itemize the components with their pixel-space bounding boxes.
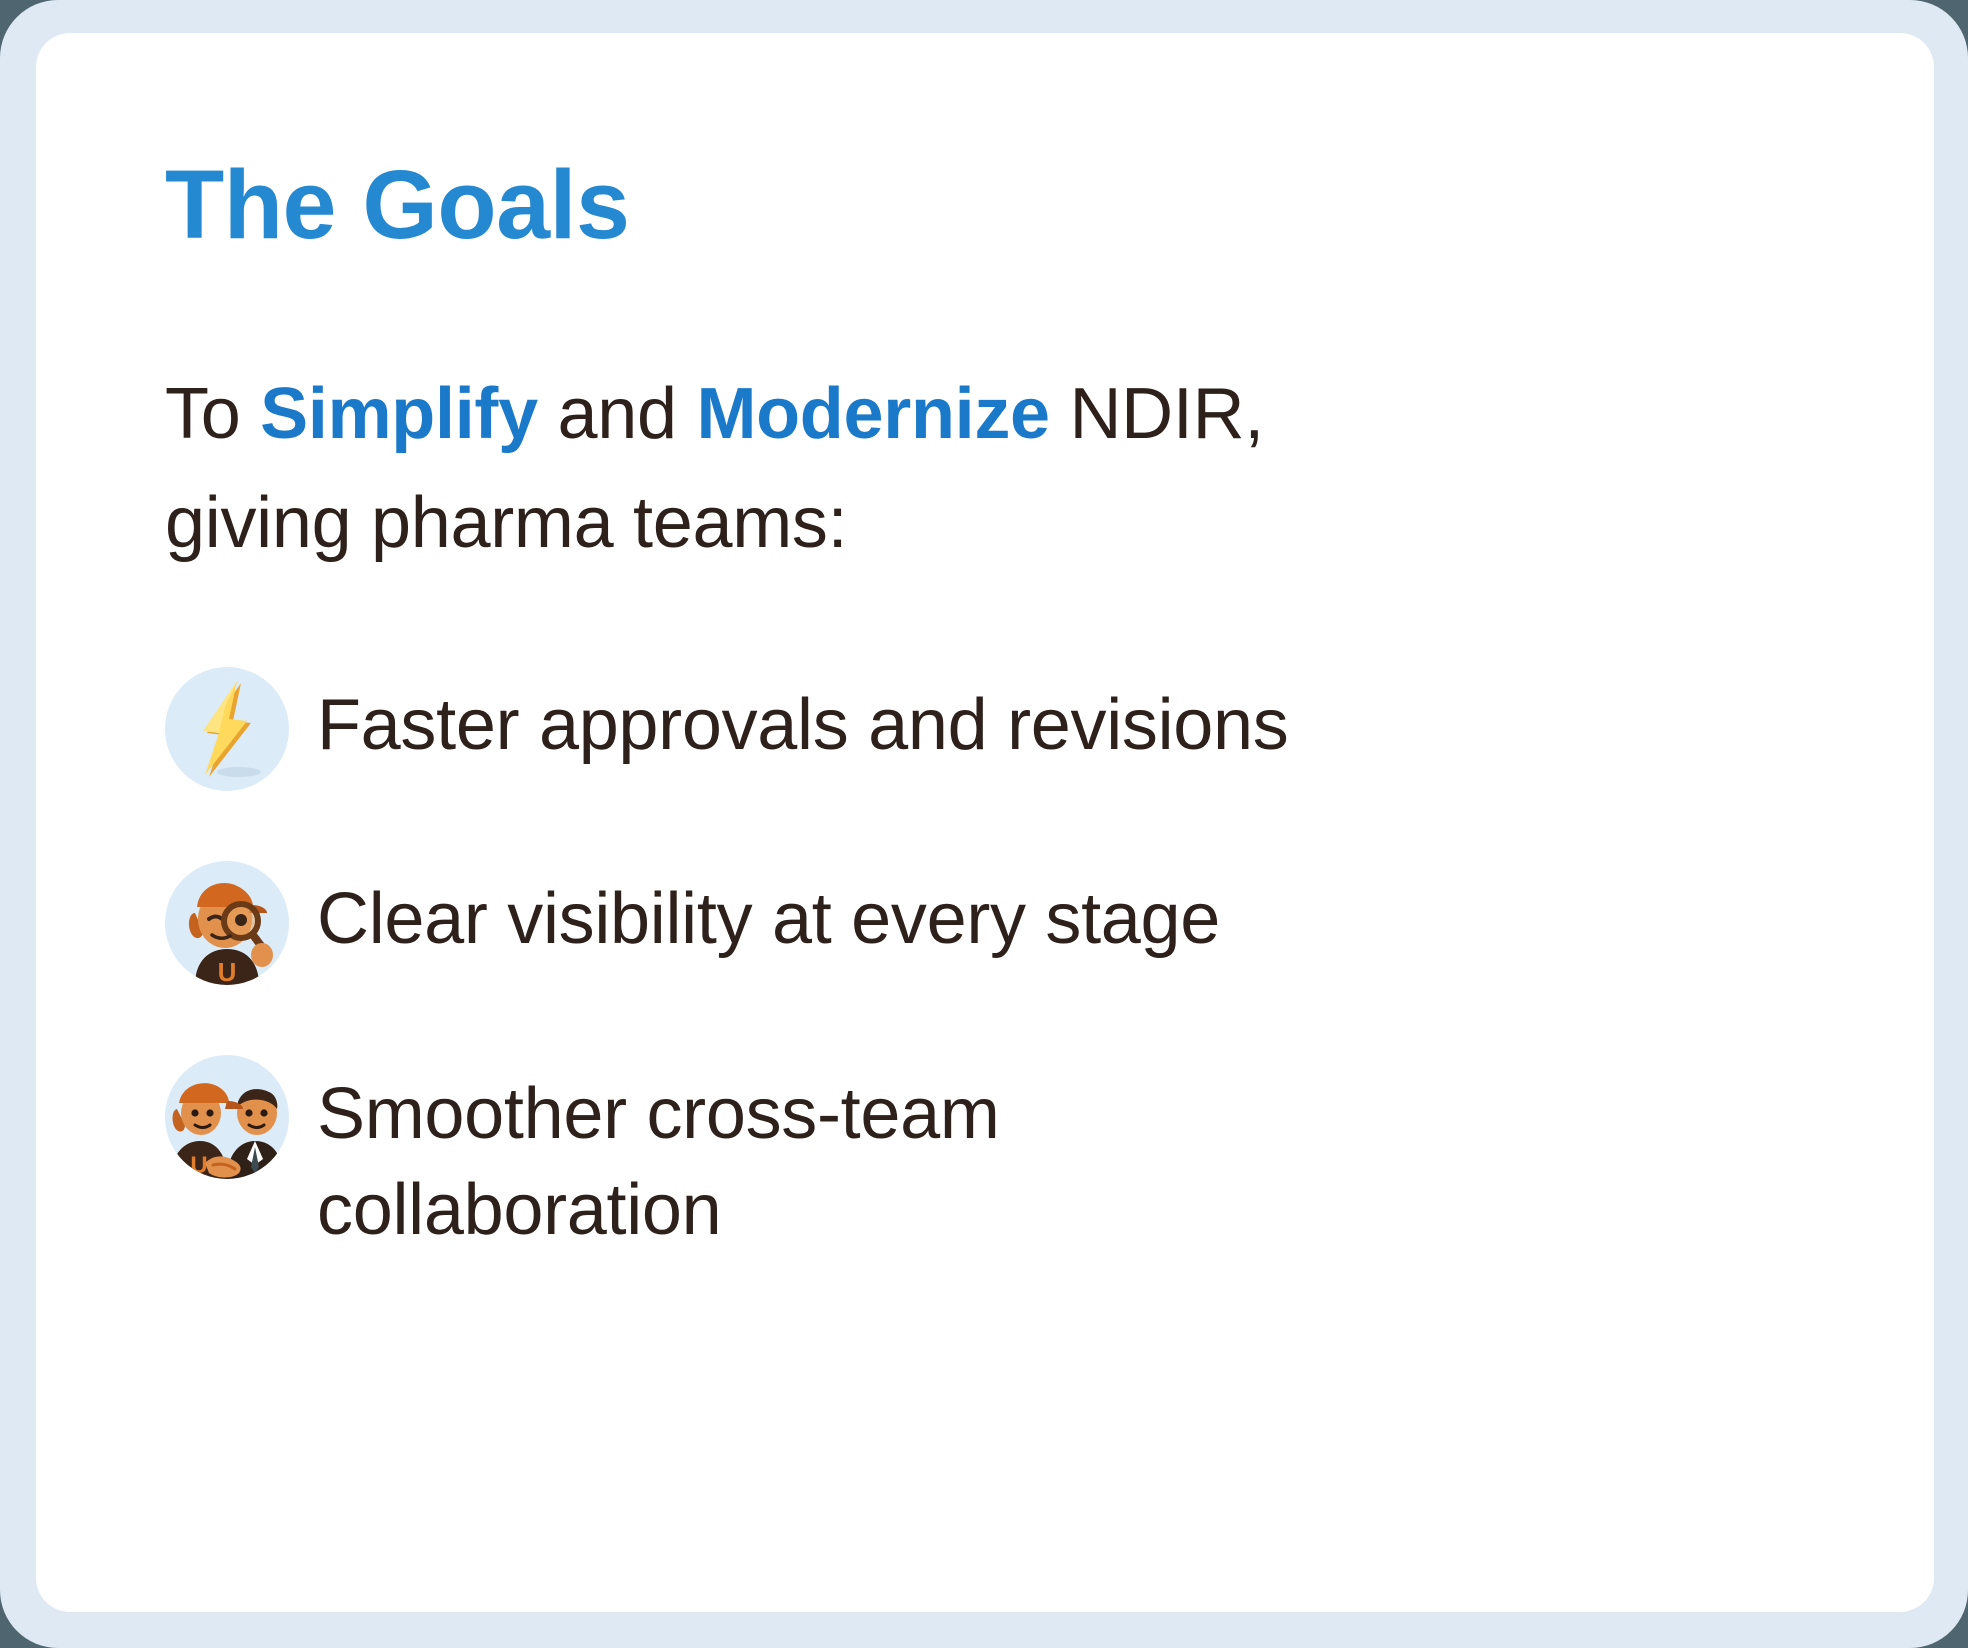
inspector-magnifying-glass-icon: U: [165, 861, 289, 985]
slide-frame: The Goals To Simplify and Modernize NDIR…: [0, 0, 1968, 1648]
card-content: The Goals To Simplify and Modernize NDIR…: [165, 156, 1844, 1258]
goal-item-faster-approvals: Faster approvals and revisions: [165, 665, 1844, 791]
goal-item-label: Clear visibility at every stage: [317, 859, 1220, 965]
lead-highlight-simplify: Simplify: [260, 374, 538, 454]
lightning-bolt-icon: [165, 667, 289, 791]
svg-text:U: U: [190, 1152, 207, 1179]
handshake-collaboration-icon: U: [165, 1055, 289, 1179]
goals-list: Faster approvals and revisions U: [165, 579, 1844, 1259]
lead-highlight-modernize: Modernize: [696, 374, 1049, 454]
goals-card: The Goals To Simplify and Modernize NDIR…: [36, 33, 1934, 1612]
lead-segment-1: To: [165, 374, 260, 454]
page-title: The Goals: [165, 156, 1844, 253]
svg-text:U: U: [218, 957, 237, 985]
goal-item-cross-team-collaboration: U Smoother cross: [165, 1053, 1844, 1259]
lead-paragraph: To Simplify and Modernize NDIR, giving p…: [165, 253, 1465, 579]
goal-item-clear-visibility: U: [165, 859, 1844, 985]
goal-item-label: Faster approvals and revisions: [317, 665, 1288, 771]
goal-item-label: Smoother cross-team collaboration: [317, 1053, 1337, 1259]
lead-segment-2: and: [538, 374, 697, 454]
